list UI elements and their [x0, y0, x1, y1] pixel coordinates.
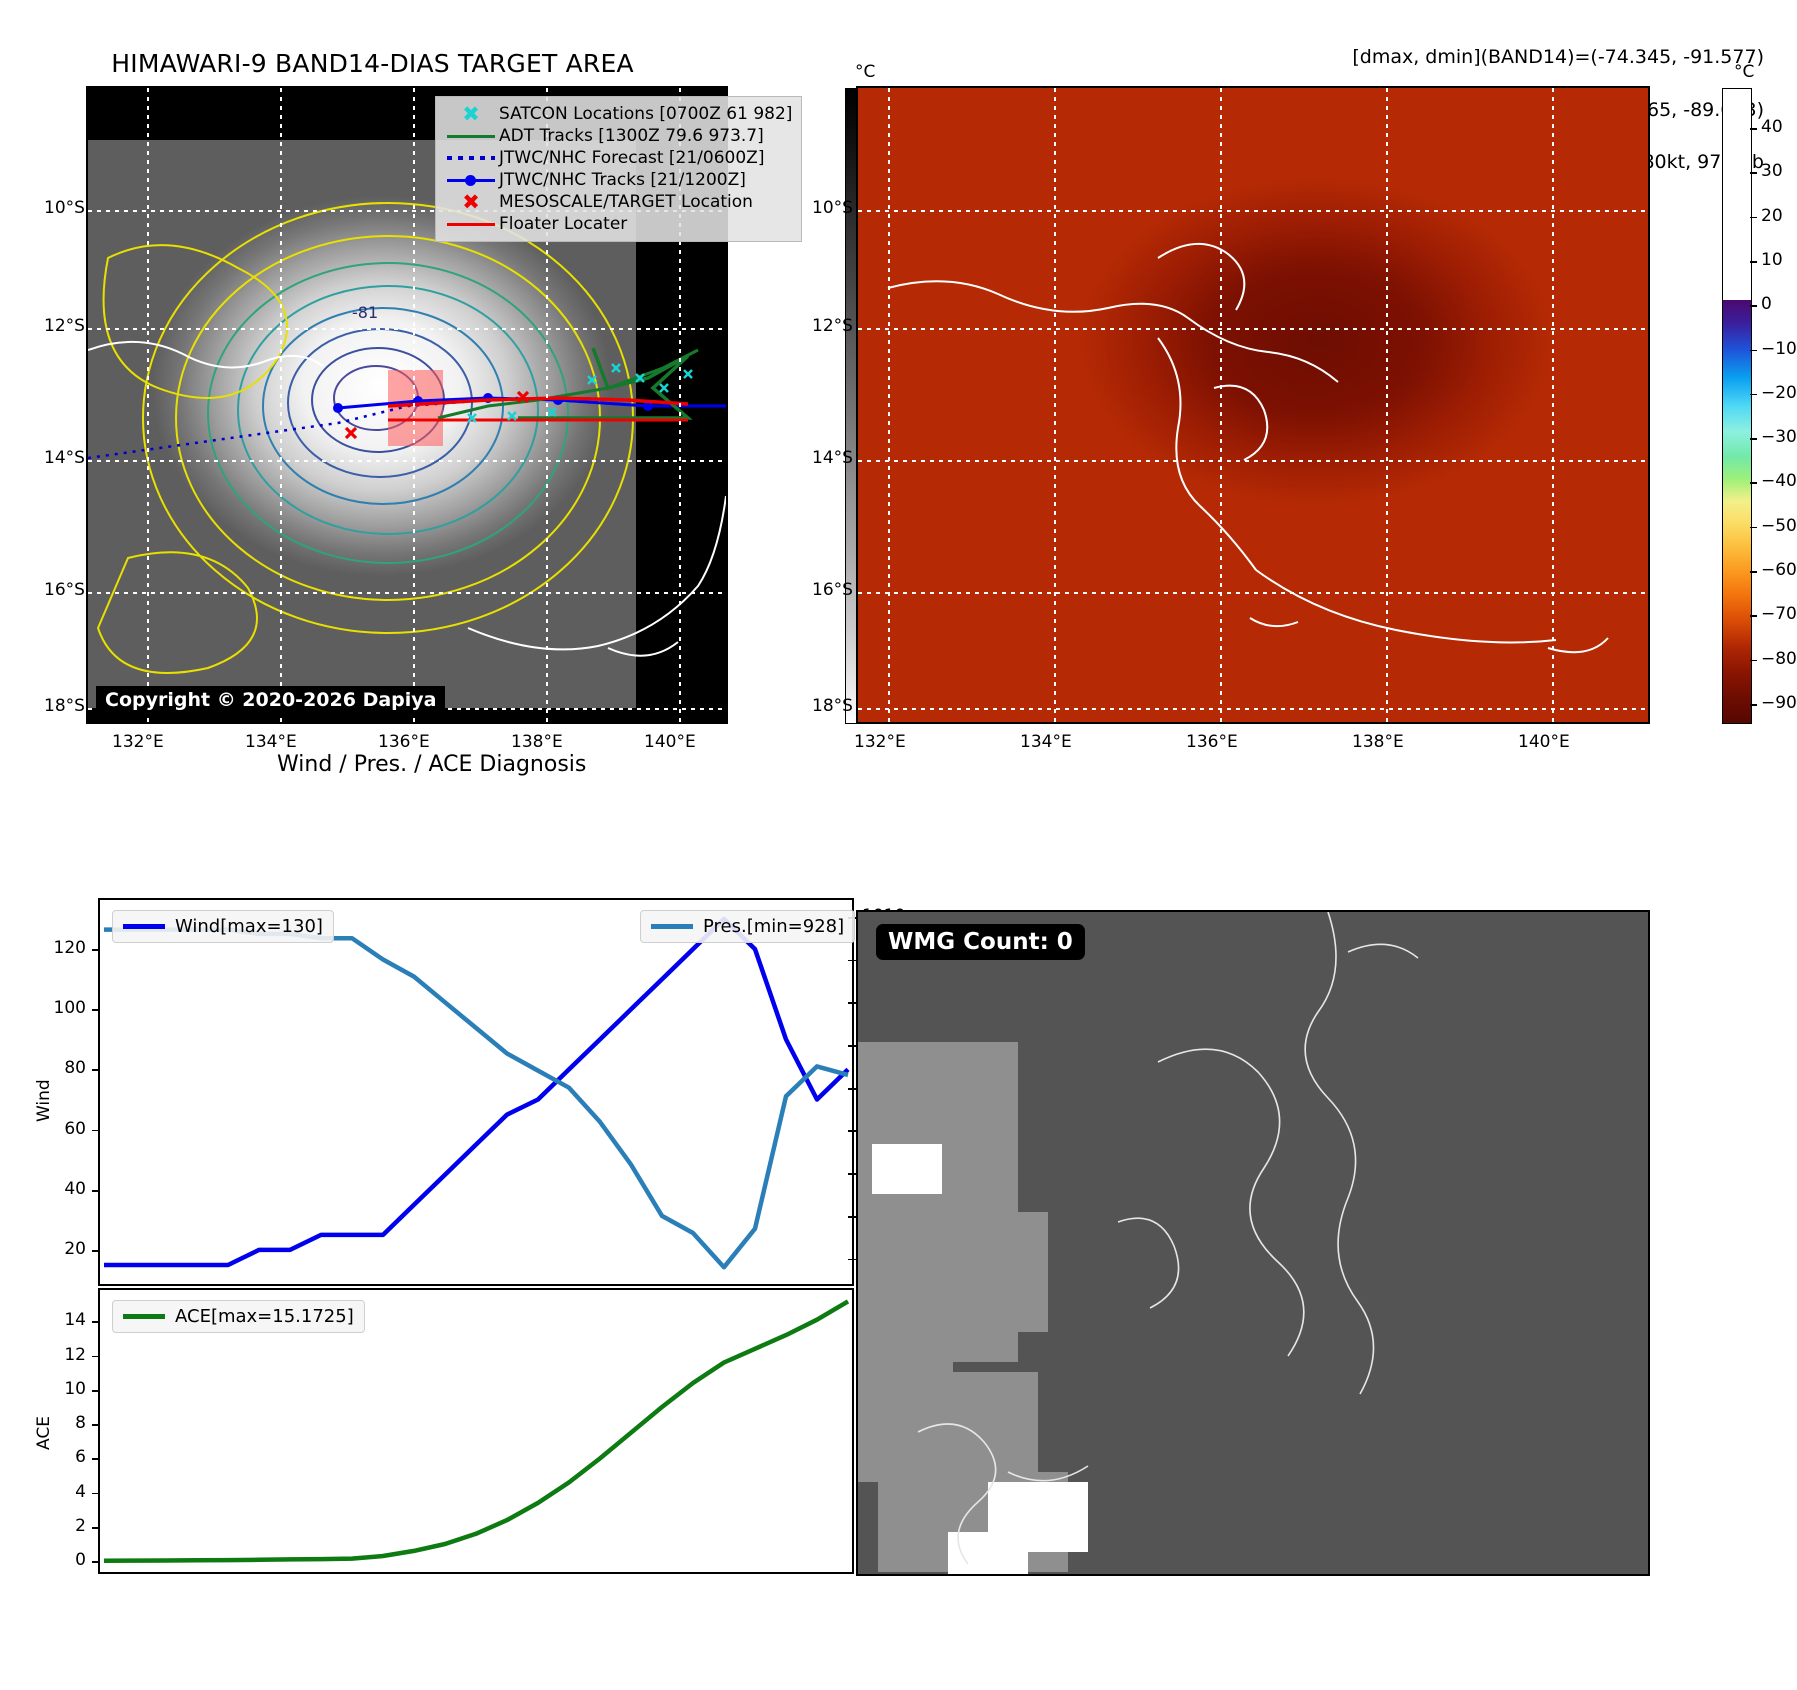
axis-tickmark [92, 1527, 100, 1529]
axis-tick-label: 40 [0, 1179, 86, 1199]
awv-colorbar-title: °C [1734, 62, 1754, 82]
ir-lon-tick: 134°E [245, 732, 297, 752]
axis-tickmark [92, 1069, 100, 1071]
legend-label: JTWC/NHC Tracks [21/1200Z] [499, 170, 746, 190]
awv-panel[interactable] [856, 86, 1650, 724]
axis-tickmark [848, 1002, 856, 1004]
axis-tickmark [848, 1173, 856, 1175]
awv-lon-tick: 136°E [1186, 732, 1238, 752]
colorbar-tick-label: −90 [1761, 693, 1797, 713]
ir-gridline-lat [88, 328, 726, 330]
series-line [104, 919, 848, 1265]
axis-tickmark [92, 1250, 100, 1252]
legend-item-forecast[interactable]: JTWC/NHC Forecast [21/0600Z] [443, 147, 792, 169]
ir-gridline-lon [280, 88, 282, 722]
awv-gridline-lat [858, 460, 1648, 462]
ir-lat-tick: 14°S [44, 448, 85, 468]
ir-gridline-lon [147, 88, 149, 722]
ir-gridline-lat [88, 592, 726, 594]
ir-lon-tick: 138°E [511, 732, 563, 752]
legend-item-tracks[interactable]: JTWC/NHC Tracks [21/1200Z] [443, 169, 792, 191]
axis-tick-label: 0 [0, 1550, 86, 1570]
awv-lat-tick: 14°S [812, 448, 853, 468]
axis-tickmark [848, 1216, 856, 1218]
ace-legend[interactable]: ACE[max=15.1725] [112, 1300, 365, 1333]
axis-tickmark [92, 1458, 100, 1460]
copyright-label: Copyright © 2020-2026 Dapiya [96, 686, 445, 714]
axis-tick-label: 8 [0, 1413, 86, 1433]
ir-map-legend[interactable]: ✖ SATCON Locations [0700Z 61 982] ADT Tr… [435, 96, 802, 242]
colorbar-tickmark [1750, 660, 1757, 662]
axis-tickmark [848, 1088, 856, 1090]
awv-gridline-lon [1054, 88, 1056, 722]
colorbar-tick-label: −20 [1761, 383, 1797, 403]
axis-tick-label: 60 [0, 1119, 86, 1139]
ir-lon-tick: 132°E [112, 732, 164, 752]
awv-lon-tick: 132°E [854, 732, 906, 752]
awv-gridline-lat [858, 210, 1648, 212]
colorbar-tick-label: −50 [1761, 516, 1797, 536]
diagnosis-title: Wind / Pres. / ACE Diagnosis [277, 752, 586, 777]
colorbar-tickmark [1750, 571, 1757, 573]
axis-tickmark [92, 1130, 100, 1132]
colorbar-tick-label: 20 [1761, 206, 1783, 226]
axis-tick-label: 100 [0, 998, 86, 1018]
axis-tick-label: 14 [0, 1310, 86, 1330]
axis-tickmark [92, 949, 100, 951]
ir-lon-tick: 136°E [378, 732, 430, 752]
awv-gridline-lon [888, 88, 890, 722]
page-title-line1: HIMAWARI-9 BAND14-DIAS TARGET AREA [111, 49, 634, 78]
awv-gridline-lat [858, 328, 1648, 330]
wmg-count-badge: WMG Count: 0 [876, 924, 1085, 960]
axis-tick-label: 10 [0, 1379, 86, 1399]
colorbar-tick-label: 40 [1761, 117, 1783, 137]
line-with-dot-icon [443, 179, 499, 182]
awv-lat-tick: 12°S [812, 316, 853, 336]
pressure-legend[interactable]: Pres.[min=928] [640, 910, 855, 943]
axis-tickmark [848, 1259, 856, 1261]
pressure-legend-swatch [651, 924, 693, 929]
pressure-legend-label: Pres.[min=928] [703, 916, 844, 937]
series-line [104, 1301, 848, 1560]
wind-legend-label: Wind[max=130] [175, 916, 323, 937]
wind-pressure-plot [100, 900, 852, 1284]
axis-tickmark [92, 1356, 100, 1358]
awv-lat-tick: 16°S [812, 580, 853, 600]
ir-gridline-lat [88, 460, 726, 462]
colorbar-tickmark [1750, 527, 1757, 529]
wind-legend-swatch [123, 924, 165, 929]
axis-tickmark [92, 1321, 100, 1323]
awv-gridline-lat [858, 708, 1648, 710]
solid-line-icon [443, 223, 499, 226]
colorbar-tickmark [1750, 394, 1757, 396]
axis-tickmark [848, 1130, 856, 1132]
awv-gridline-lat [858, 592, 1648, 594]
stats-band14: [dmax, dmin](BAND14)=(-74.345, -91.577) [1352, 46, 1764, 68]
colorbar-tick-label: −70 [1761, 604, 1797, 624]
axis-tick-label: 20 [0, 1239, 86, 1259]
colorbar-tickmark [1750, 217, 1757, 219]
colorbar-tickmark [1750, 350, 1757, 352]
x-marker-icon: ✖ [443, 192, 499, 213]
legend-item-satcon[interactable]: ✖ SATCON Locations [0700Z 61 982] [443, 103, 792, 125]
colorbar-tick-label: −80 [1761, 649, 1797, 669]
colorbar-tick-label: 30 [1761, 161, 1783, 181]
axis-tickmark [92, 1493, 100, 1495]
ir-gridline-lon [413, 88, 415, 722]
ir-lat-tick: 16°S [44, 580, 85, 600]
axis-tickmark [92, 1561, 100, 1563]
ace-legend-label: ACE[max=15.1725] [175, 1306, 354, 1327]
axis-tickmark [92, 1424, 100, 1426]
dotted-line-icon [443, 156, 499, 160]
legend-label: SATCON Locations [0700Z 61 982] [499, 104, 792, 124]
contour-temp-label: -81 [352, 303, 378, 322]
awv-gridline-lon [1552, 88, 1554, 722]
axis-tickmark [92, 1390, 100, 1392]
colorbar-tick-label: 10 [1761, 250, 1783, 270]
solid-line-icon [443, 135, 499, 138]
axis-tickmark [92, 1190, 100, 1192]
colorbar-tickmark [1750, 128, 1757, 130]
axis-tickmark [92, 1009, 100, 1011]
awv-lat-tick: 18°S [812, 696, 853, 716]
ir-lat-tick: 10°S [44, 198, 85, 218]
legend-item-mesoscale[interactable]: ✖ MESOSCALE/TARGET Location [443, 191, 792, 213]
awv-satellite-image[interactable] [858, 88, 1648, 722]
awv-gridline-lon [1386, 88, 1388, 722]
wmg-cells-overlay [858, 912, 1648, 1574]
awv-lon-tick: 138°E [1352, 732, 1404, 752]
awv-lon-tick: 140°E [1518, 732, 1570, 752]
legend-label: MESOSCALE/TARGET Location [499, 192, 753, 212]
axis-tick-label: 120 [0, 938, 86, 958]
awv-coastline-overlay [858, 88, 1648, 722]
awv-lat-tick: 10°S [812, 198, 853, 218]
colorbar-tickmark [1750, 704, 1757, 706]
colorbar-tickmark [1750, 615, 1757, 617]
axis-tick-label: 4 [0, 1482, 86, 1502]
ir-lon-tick: 140°E [644, 732, 696, 752]
ir-lat-tick: 18°S [44, 696, 85, 716]
awv-lon-tick: 134°E [1020, 732, 1072, 752]
colorbar-tick-label: −10 [1761, 339, 1797, 359]
wind-pressure-chart[interactable] [98, 898, 854, 1286]
colorbar-tick-label: −40 [1761, 471, 1797, 491]
colorbar-tick-label: −30 [1761, 427, 1797, 447]
legend-label: JTWC/NHC Forecast [21/0600Z] [499, 148, 764, 168]
wind-legend[interactable]: Wind[max=130] [112, 910, 334, 943]
colorbar-tickmark [1750, 482, 1757, 484]
wind-axis-label: Wind [34, 1079, 54, 1122]
colorbar-tickmark [1750, 305, 1757, 307]
ir-lat-tick: 12°S [44, 316, 85, 336]
colorbar-tickmark [1750, 261, 1757, 263]
colorbar-tick-label: 0 [1761, 294, 1772, 314]
legend-item-floater[interactable]: Floater Locater [443, 213, 792, 235]
awv-colorbar[interactable] [1722, 88, 1752, 724]
axis-tickmark [848, 960, 856, 962]
axis-tick-label: 6 [0, 1447, 86, 1467]
legend-label: ADT Tracks [1300Z 79.6 973.7] [499, 126, 764, 146]
axis-tickmark [848, 1045, 856, 1047]
ace-legend-swatch [123, 1314, 165, 1319]
colorbar-tick-label: −60 [1761, 560, 1797, 580]
colorbar-tickmark [1750, 438, 1757, 440]
colorbar-tickmark [1750, 172, 1757, 174]
axis-tick-label: 2 [0, 1516, 86, 1536]
legend-item-adt[interactable]: ADT Tracks [1300Z 79.6 973.7] [443, 125, 792, 147]
ir-colorbar-title: °C [855, 62, 875, 82]
series-line [104, 930, 848, 1268]
axis-tick-label: 80 [0, 1058, 86, 1078]
wmg-panel-frame[interactable]: WMG Count: 0 [856, 910, 1650, 1576]
awv-gridline-lon [1220, 88, 1222, 722]
axis-tick-label: 12 [0, 1345, 86, 1365]
legend-label: Floater Locater [499, 214, 627, 234]
wmg-map[interactable]: WMG Count: 0 [858, 912, 1648, 1574]
x-marker-icon: ✖ [443, 104, 499, 125]
